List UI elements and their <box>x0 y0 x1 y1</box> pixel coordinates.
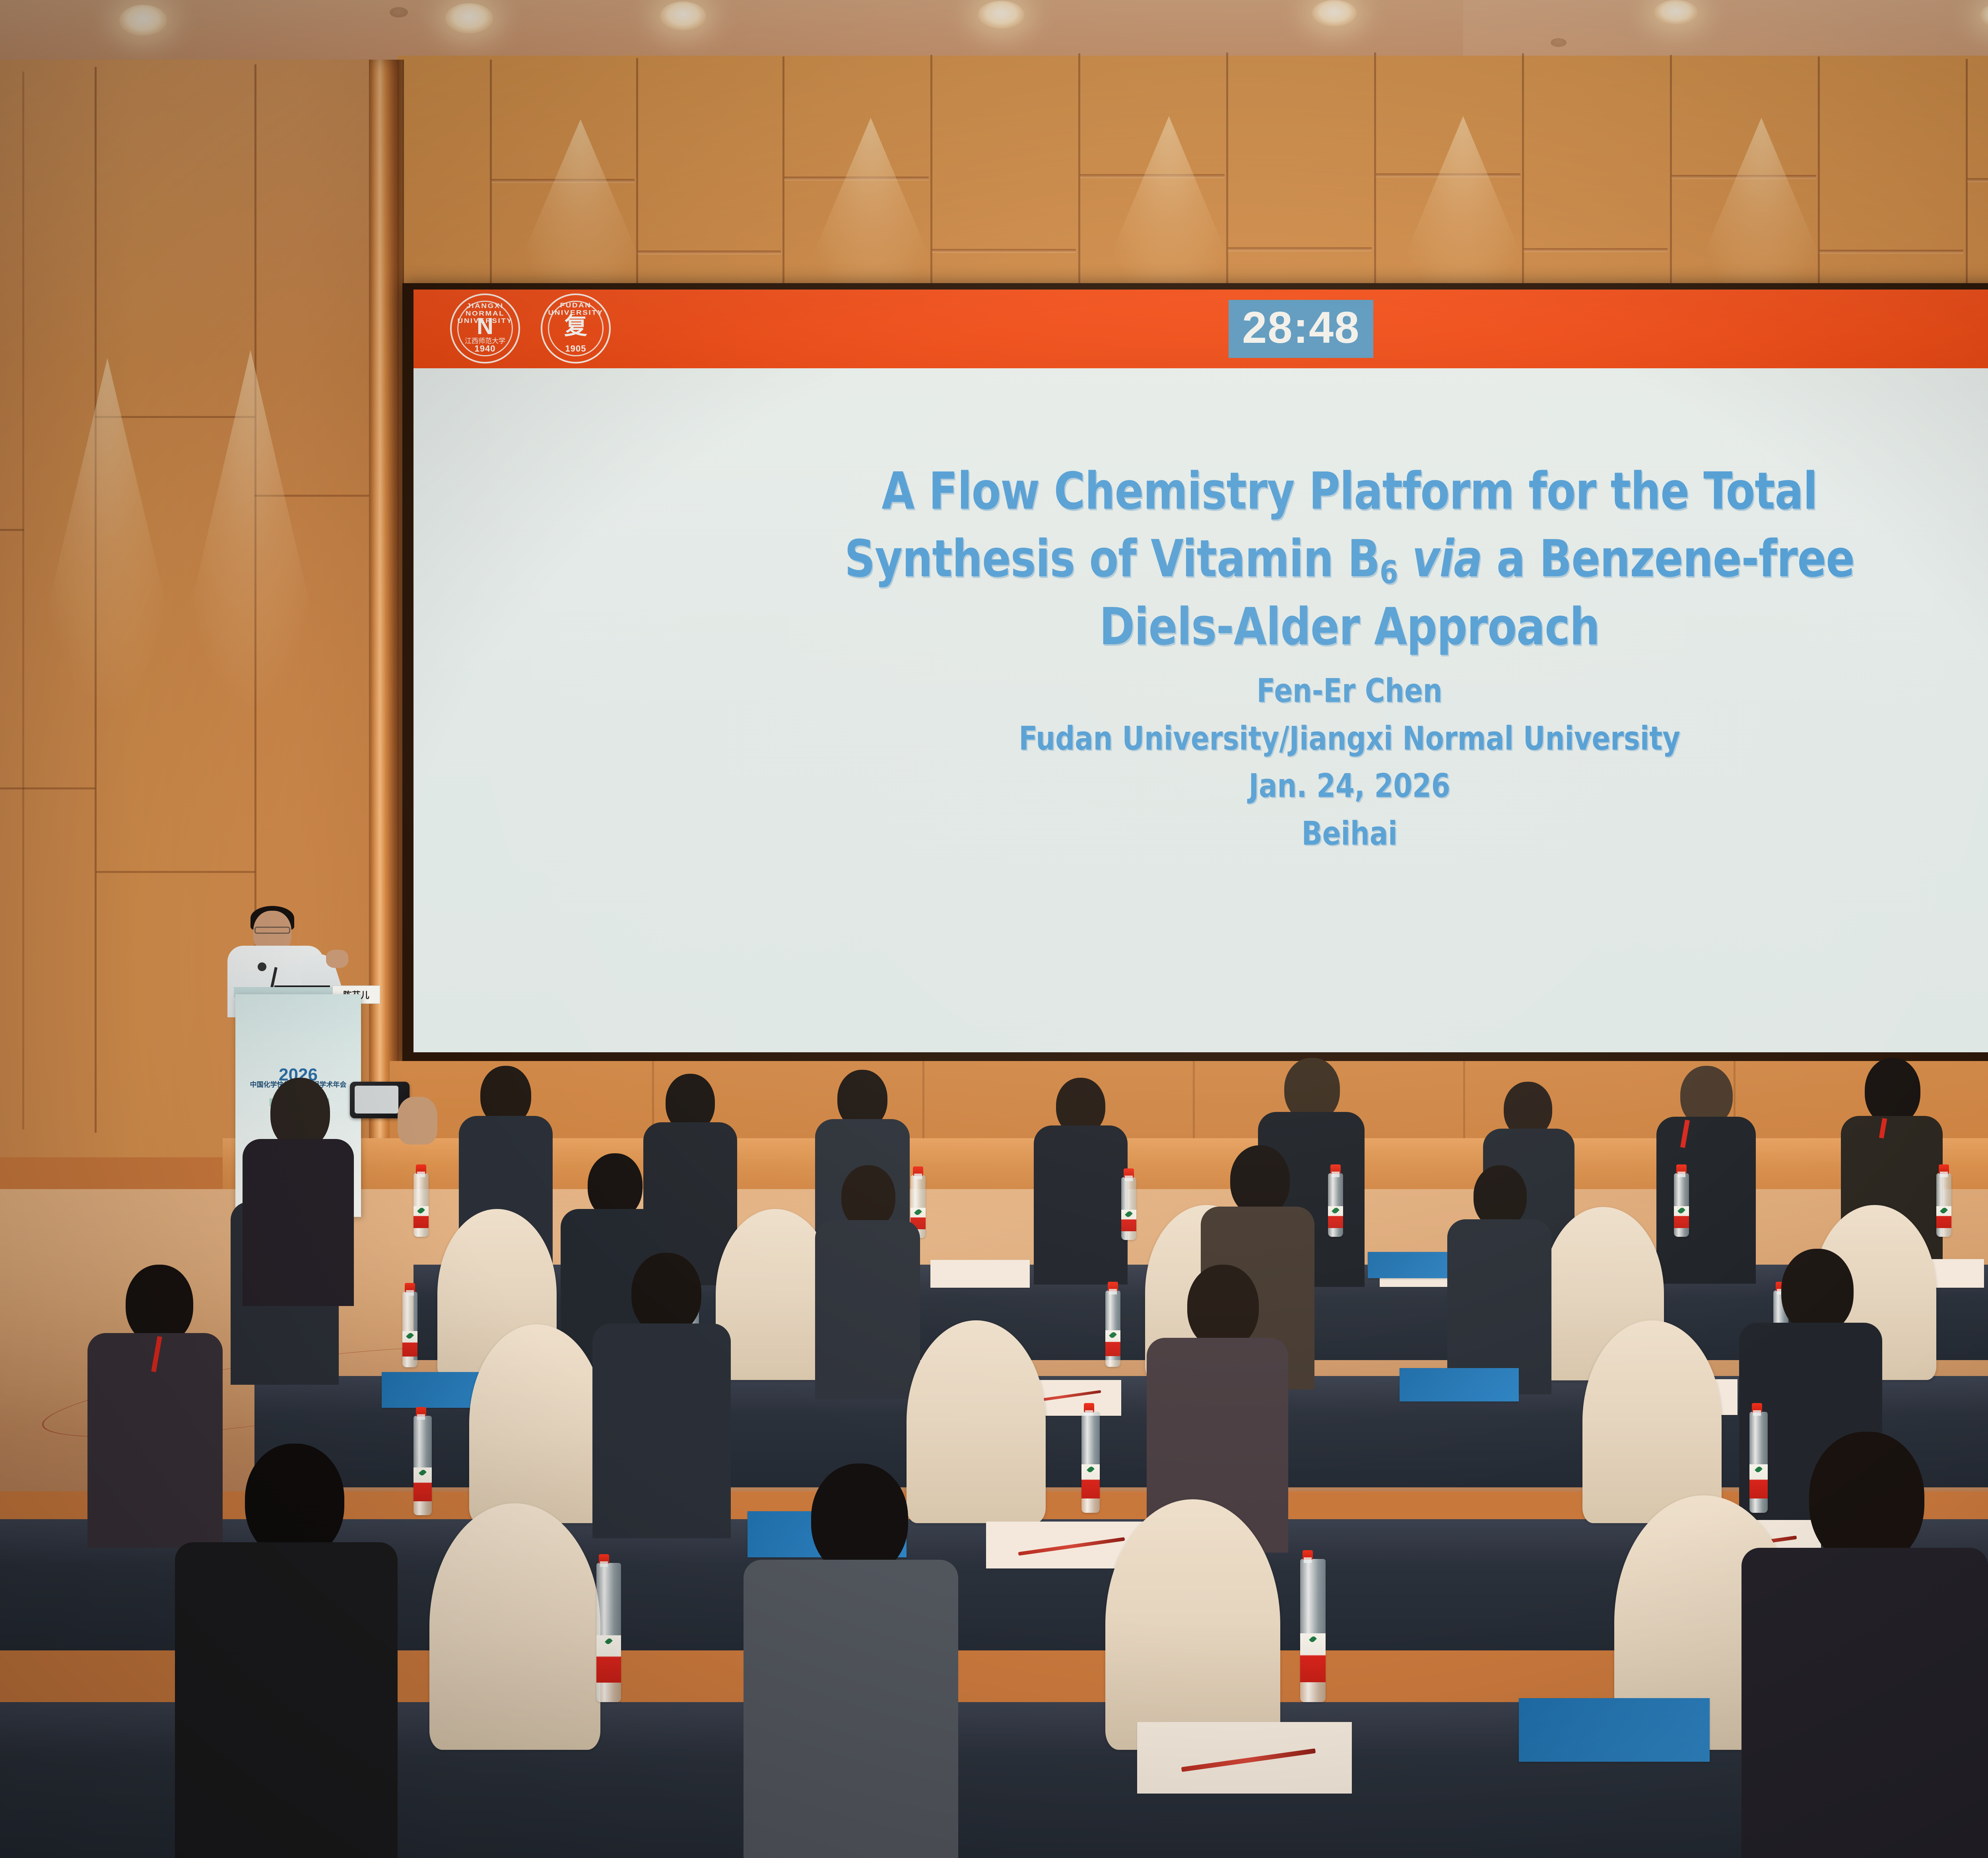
slide-location: Beihai <box>553 810 1988 858</box>
chair <box>907 1320 1046 1523</box>
smartphone-screen <box>355 1086 398 1114</box>
slide-body: A Flow Chemistry Platform for the Total … <box>414 368 1988 1052</box>
wall-panel-seam <box>22 72 24 1129</box>
person-body <box>175 1542 398 1858</box>
slide-title-line-2-pre: Synthesis of Vitamin B <box>845 529 1380 589</box>
chair <box>429 1503 600 1750</box>
wall-panel-seam <box>96 871 255 873</box>
logo-glyph: N <box>452 315 518 338</box>
person-head <box>1781 1249 1854 1334</box>
water-bottle <box>402 1292 417 1367</box>
stage-panel-seam <box>1463 1061 1465 1141</box>
person-body <box>1656 1117 1756 1284</box>
logo-year: 1905 <box>542 344 609 354</box>
water-bottle <box>414 1173 429 1237</box>
paper-sheet <box>1137 1722 1352 1794</box>
ceiling-downlight <box>445 3 493 33</box>
person-head <box>1474 1165 1527 1228</box>
wall-panel-notch <box>1524 248 1668 252</box>
person-body <box>243 1139 354 1306</box>
speaker-glasses <box>254 927 290 934</box>
bottle-neck <box>1304 1557 1312 1563</box>
person-head <box>126 1265 193 1344</box>
ceiling-vent <box>390 7 408 17</box>
fudan-university-logo: FUDAN UNIVERSITY 复 1905 <box>541 293 611 363</box>
slide-author: Fen-Er Chen <box>553 667 1988 715</box>
water-bottle <box>1105 1290 1120 1367</box>
bottle-neck <box>1753 1410 1761 1416</box>
bottle-neck <box>1109 1289 1117 1294</box>
document-folder <box>1400 1368 1519 1401</box>
water-bottle <box>1936 1173 1951 1237</box>
chair <box>1105 1499 1280 1750</box>
bottle-neck <box>1125 1176 1133 1181</box>
bottle-neck <box>600 1561 608 1567</box>
ceiling-vent <box>1551 38 1567 47</box>
projection-screen: JIANGXI NORMAL UNIVERSITY N 1940 江西师范大学 … <box>414 290 1988 1052</box>
slide-date: Jan. 24, 2026 <box>553 762 1988 810</box>
ceiling-downlight <box>660 2 706 30</box>
photographer-hand <box>398 1097 437 1145</box>
stage-panel-seam <box>1193 1061 1195 1141</box>
person-body <box>1034 1125 1128 1285</box>
slide-title-line-1: A Flow Chemistry Platform for the Total <box>553 458 1988 525</box>
water-bottle <box>1121 1177 1136 1240</box>
bottle-neck <box>417 1172 425 1177</box>
slide-title-via: via <box>1412 529 1482 589</box>
jiangxi-normal-university-logo: JIANGXI NORMAL UNIVERSITY N 1940 江西师范大学 <box>450 293 520 363</box>
slide-title-subscript: 6 <box>1380 554 1398 591</box>
stage-panel-seam <box>922 1061 924 1141</box>
water-bottle <box>1674 1173 1689 1237</box>
bottle-neck <box>1332 1172 1340 1177</box>
presentation-timer: 28:48 <box>1229 300 1373 358</box>
speaker-hand <box>326 950 348 968</box>
water-bottle <box>414 1416 432 1515</box>
slide-title-line-2-post: a Benzene-free <box>1482 529 1854 589</box>
logo-glyph: 复 <box>542 315 609 338</box>
person-head <box>270 1078 330 1149</box>
person-body <box>592 1324 731 1538</box>
microphone-head <box>258 962 266 971</box>
water-bottle <box>1300 1559 1326 1702</box>
wall-panel-notch <box>1228 247 1372 251</box>
bottle-neck <box>1085 1410 1093 1416</box>
ceiling-downlight <box>978 1 1024 29</box>
wall-panel-notch <box>1819 250 1963 254</box>
slide-subtitle-block: Fen-Er Chen Fudan University/Jiangxi Nor… <box>553 667 1988 858</box>
ceiling-downlight <box>1654 0 1698 25</box>
person-head <box>631 1253 701 1335</box>
person-head <box>1187 1265 1259 1349</box>
bottle-neck <box>914 1174 922 1179</box>
chair <box>1582 1320 1722 1523</box>
ceiling-downlight <box>119 5 167 36</box>
person-head <box>811 1463 908 1576</box>
wall-panel-seam <box>0 787 95 789</box>
bottle-neck <box>417 1414 425 1420</box>
person-head <box>1865 1058 1920 1125</box>
person-head <box>1230 1145 1290 1216</box>
slide-title-line-3: Diels-Alder Approach <box>553 593 1988 661</box>
person-head <box>245 1444 344 1559</box>
logo-chinese-text: 江西师范大学 <box>452 335 518 345</box>
slide-banner: JIANGXI NORMAL UNIVERSITY N 1940 江西师范大学 … <box>414 290 1988 368</box>
wall-panel-seam <box>0 529 24 531</box>
wall-panel-notch <box>638 251 781 255</box>
wall-panel-notch <box>1967 178 1988 182</box>
person-head <box>1809 1432 1924 1567</box>
person-body <box>1741 1548 1988 1858</box>
document-folder <box>1519 1698 1710 1762</box>
water-bottle <box>1328 1173 1343 1237</box>
water-bottle <box>596 1563 621 1702</box>
slide-affiliation: Fudan University/Jiangxi Normal Universi… <box>553 715 1988 763</box>
wall-panel-notch <box>932 249 1076 253</box>
slide-title-line-2: Synthesis of Vitamin B6 via a Benzene-fr… <box>553 525 1988 593</box>
paper-sheet <box>930 1260 1030 1288</box>
bottle-neck <box>406 1290 414 1296</box>
slide-title: A Flow Chemistry Platform for the Total … <box>553 458 1988 661</box>
bottle-neck <box>1677 1172 1685 1177</box>
conference-hall-photo: JIANGXI NORMAL UNIVERSITY N 1940 江西师范大学 … <box>0 0 1988 1858</box>
ceiling-downlight <box>1312 0 1357 26</box>
bottle-neck <box>1940 1172 1948 1177</box>
water-bottle <box>1081 1412 1100 1513</box>
person-body <box>815 1220 920 1399</box>
water-bottle <box>1749 1412 1768 1513</box>
person-head <box>841 1165 895 1229</box>
person-body <box>744 1560 958 1858</box>
chair <box>469 1324 604 1523</box>
